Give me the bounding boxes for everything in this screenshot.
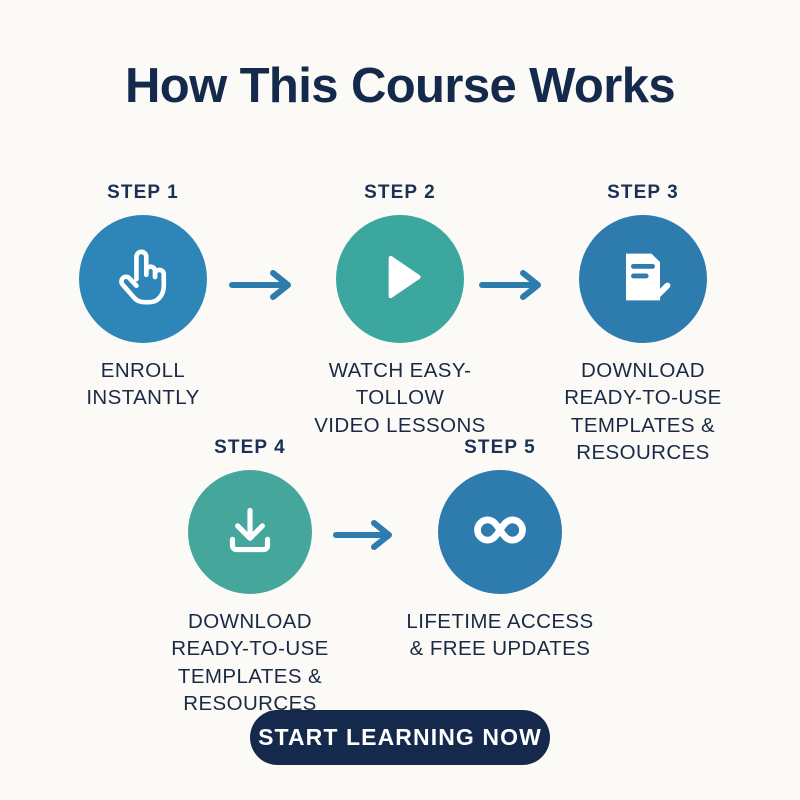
step-label-4: STEP 4	[135, 437, 365, 459]
download-tray-icon	[217, 497, 283, 568]
step-card-5: STEP 5 LIFETIME ACCESS & FREE UPDATES	[385, 437, 615, 663]
step-icon-wrap-3	[528, 215, 758, 343]
document-download-icon	[609, 243, 677, 316]
step-icon-wrap-5	[385, 470, 615, 594]
step-card-3: STEP 3 DOWNLOAD READY-TO-USE TEMPLATE	[528, 182, 758, 466]
step-circle-3	[579, 215, 707, 343]
step-caption-4: DOWNLOAD READY-TO-USE TEMPLATES & RESOUR…	[135, 608, 365, 717]
step-circle-4	[188, 470, 312, 594]
step-circle-2	[336, 215, 464, 343]
step-label-1: STEP 1	[28, 182, 258, 204]
start-learning-button[interactable]: START LEARNING NOW	[250, 710, 550, 765]
start-learning-button-label: START LEARNING NOW	[258, 724, 542, 751]
step-label-2: STEP 2	[285, 182, 515, 204]
step-circle-1	[79, 215, 207, 343]
pointing-hand-icon	[108, 242, 178, 317]
step-card-4: STEP 4 DOWNLOAD READY-TO-USE TEMPLATES &…	[135, 437, 365, 717]
step-card-2: STEP 2 WATCH EASY-TOLLOW VIDEO LESSONS	[285, 182, 515, 439]
step-label-3: STEP 3	[528, 182, 758, 204]
step-card-1: STEP 1 ENROLL INSTANTLY	[28, 182, 258, 412]
infinity-icon	[464, 494, 536, 571]
step-circle-5	[438, 470, 562, 594]
step-icon-wrap-1	[28, 215, 258, 343]
step-caption-1: ENROLL INSTANTLY	[28, 357, 258, 412]
step-icon-wrap-4	[135, 470, 365, 594]
step-label-5: STEP 5	[385, 437, 615, 459]
page-title: How This Course Works	[0, 62, 800, 111]
infographic-canvas: How This Course Works STEP 1 ENROLL INST…	[0, 0, 800, 800]
step-caption-2: WATCH EASY-TOLLOW VIDEO LESSONS	[285, 357, 515, 439]
play-icon	[367, 244, 433, 315]
step-caption-5: LIFETIME ACCESS & FREE UPDATES	[385, 608, 615, 663]
